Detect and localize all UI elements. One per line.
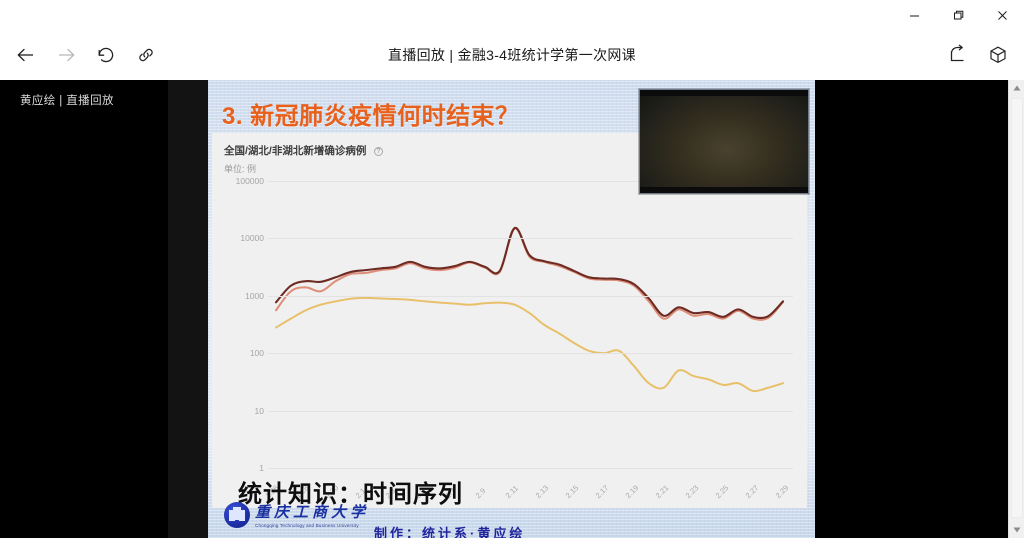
title-bar [0, 0, 1024, 30]
gridline [268, 468, 793, 469]
gridline [268, 353, 793, 354]
navigation-toolbar: 直播回放 | 金融3-4班统计学第一次网课 [0, 30, 1024, 80]
scroll-up-arrow-icon[interactable] [1009, 80, 1024, 96]
university-emblem-icon [224, 502, 250, 528]
webcam-video-inset[interactable] [639, 89, 809, 194]
maximize-restore-button[interactable] [936, 0, 980, 30]
info-icon[interactable]: ? [374, 147, 383, 156]
presenter-label: 黄应绘 | 直播回放 [20, 92, 114, 108]
chart-plot-area: 110100100010000100000 1.261.281.302.12.3… [212, 163, 807, 508]
presentation-slide: 3. 新冠肺炎疫情何时结束？ 全国/湖北/非湖北新增确诊病例 ? 单位: 例 1… [208, 80, 815, 538]
y-axis-tick-label: 10000 [240, 233, 264, 243]
y-axis-tick-label: 10 [255, 406, 264, 416]
back-arrow-icon[interactable] [6, 35, 46, 75]
slide-footer: 统计知识：时间序列 重庆工商大学 Chongqing Technology an… [224, 472, 799, 530]
chart-series-line [276, 228, 783, 319]
cube-icon[interactable] [978, 35, 1018, 75]
video-stage[interactable]: 黄应绘 | 直播回放 3. 新冠肺炎疫情何时结束？ 全国/湖北/非湖北新增确诊病… [0, 80, 1008, 538]
chart-title: 全国/湖北/非湖北新增确诊病例 [224, 143, 366, 158]
scroll-down-arrow-icon[interactable] [1009, 522, 1024, 538]
university-name-cn: 重庆工商大学 [255, 501, 369, 522]
y-axis-tick-label: 1000 [245, 291, 264, 301]
letterbox-left-inner [168, 80, 208, 538]
close-button[interactable] [980, 0, 1024, 30]
university-logo: 重庆工商大学 Chongqing Technology and Business… [224, 501, 369, 528]
slide-credit: 制作：统计系·黄应绘 [374, 523, 525, 538]
share-icon[interactable] [938, 35, 978, 75]
university-name-en: Chongqing Technology and Business Univer… [255, 523, 369, 528]
webcam-feed [640, 90, 808, 193]
toolbar-right-group [938, 30, 1018, 80]
scrollbar-thumb[interactable] [1011, 98, 1023, 518]
webcam-letterbox-bottom [640, 187, 808, 193]
y-axis-tick-label: 100000 [236, 176, 264, 186]
letterbox-left [0, 80, 168, 538]
chart-lines [268, 163, 793, 508]
refresh-icon[interactable] [86, 35, 126, 75]
y-axis: 110100100010000100000 [222, 163, 264, 508]
slide-title: 3. 新冠肺炎疫情何时结束？ [222, 96, 520, 131]
gridline [268, 238, 793, 239]
gridline [268, 296, 793, 297]
webcam-letterbox-top [640, 90, 808, 96]
browser-window: 直播回放 | 金融3-4班统计学第一次网课 [0, 0, 1024, 538]
minimize-button[interactable] [892, 0, 936, 30]
gridline [268, 411, 793, 412]
vertical-scrollbar[interactable] [1008, 80, 1024, 538]
link-icon[interactable] [126, 35, 166, 75]
nav-buttons-group [0, 35, 166, 75]
forward-arrow-icon[interactable] [46, 35, 86, 75]
y-axis-tick-label: 100 [250, 348, 264, 358]
